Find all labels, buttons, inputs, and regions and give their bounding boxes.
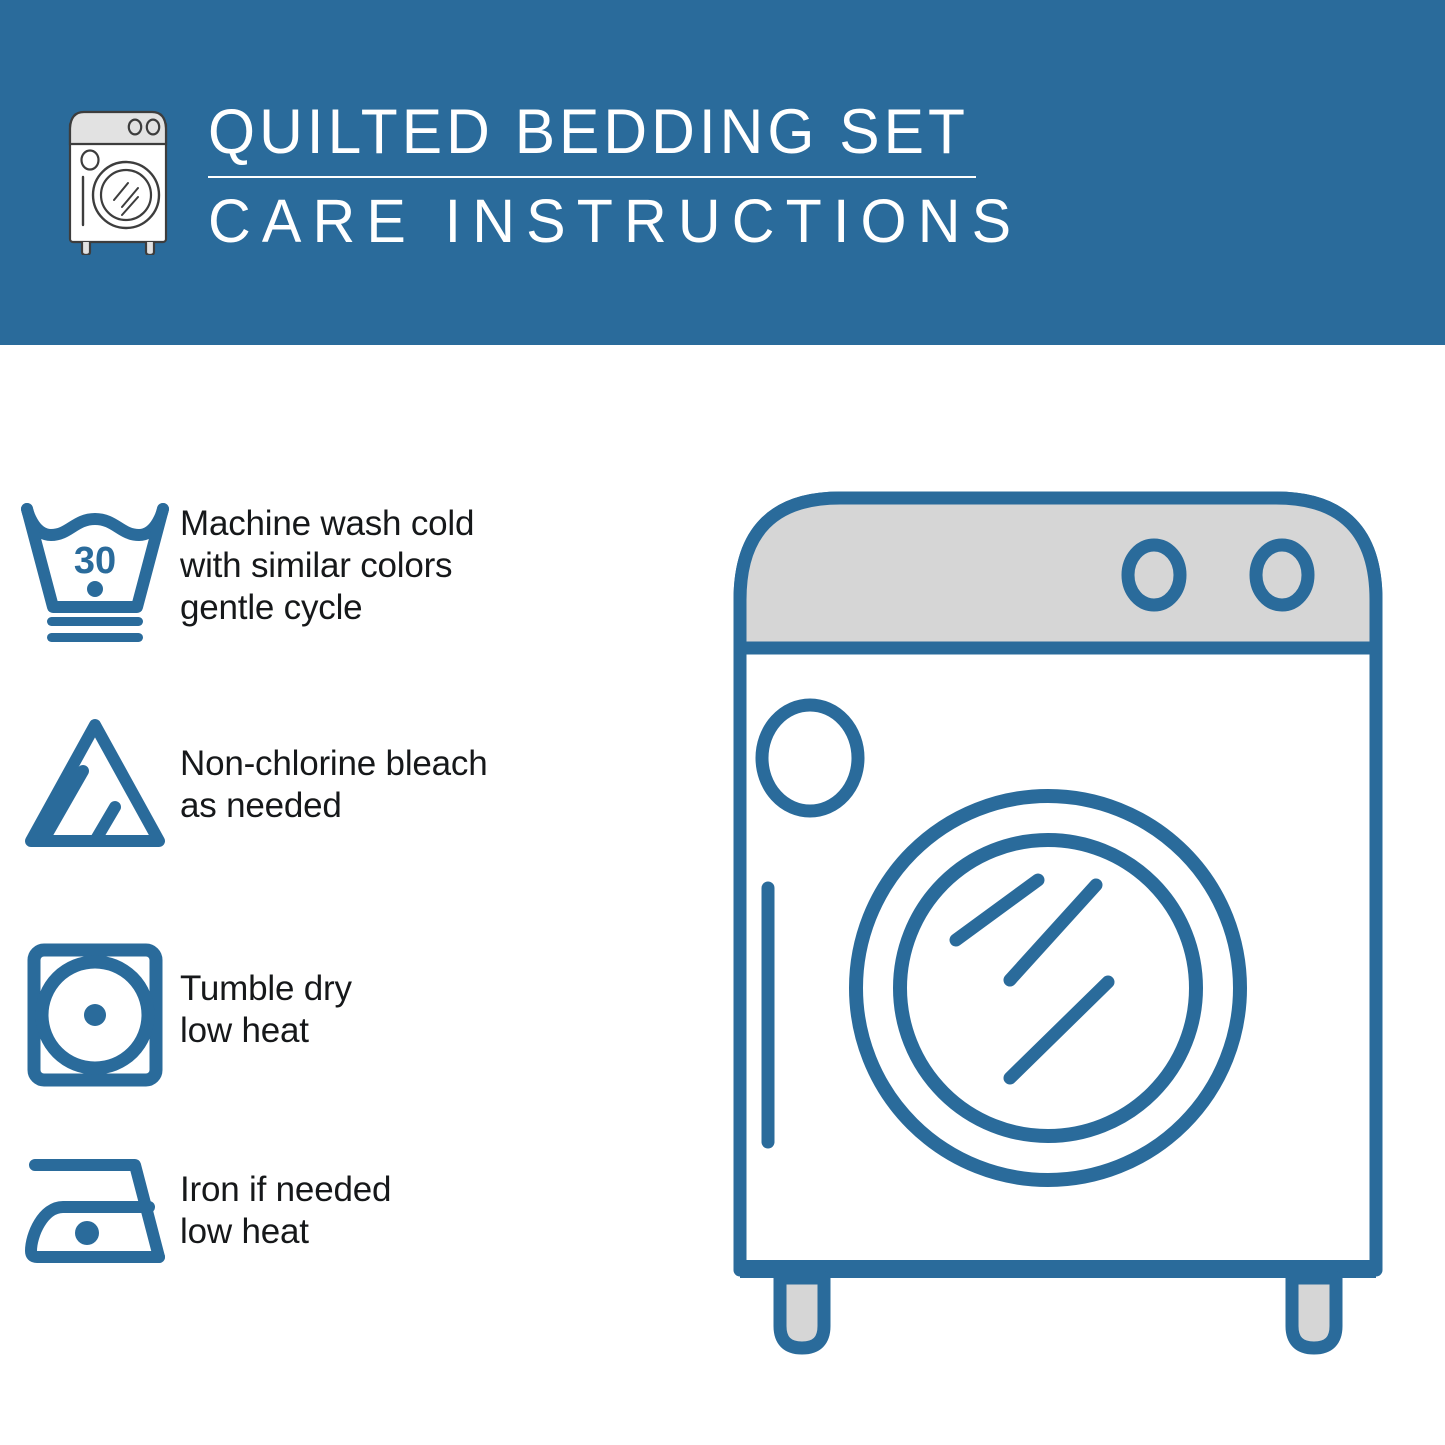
title-divider xyxy=(208,176,976,178)
page-subtitle: CARE INSTRUCTIONS xyxy=(208,187,974,255)
care-text-tumble-dry: Tumble dry low heat xyxy=(180,940,352,1052)
washing-machine-icon xyxy=(62,100,174,255)
care-row-bleach: Non-chlorine bleach as needed xyxy=(0,715,700,855)
care-text-iron: Iron if needed low heat xyxy=(180,1145,391,1253)
iron-low-heat-icon xyxy=(0,1145,180,1275)
header-text-block: QUILTED BEDDING SET CARE INSTRUCTIONS xyxy=(208,96,998,255)
knob-right xyxy=(1256,545,1308,605)
care-instructions-page: QUILTED BEDDING SET CARE INSTRUCTIONS 30 xyxy=(0,0,1445,1445)
tumble-dry-low-icon xyxy=(0,940,180,1090)
washing-machine-illustration xyxy=(718,470,1398,1370)
knob-left xyxy=(1128,545,1180,605)
base-bar xyxy=(740,1260,1376,1278)
leg-left xyxy=(780,1278,824,1348)
door-inner-ring xyxy=(900,840,1196,1136)
header-banner: QUILTED BEDDING SET CARE INSTRUCTIONS xyxy=(0,0,1445,345)
bleach-triangle-icon xyxy=(0,715,180,855)
wash-temperature-label: 30 xyxy=(73,540,115,582)
care-text-machine-wash: Machine wash cold with similar colors ge… xyxy=(180,495,474,629)
care-row-tumble-dry: Tumble dry low heat xyxy=(0,940,700,1090)
care-row-machine-wash: 30 Machine wash cold with similar colors… xyxy=(0,495,700,645)
wash-tub-30-icon: 30 xyxy=(0,495,180,645)
care-text-bleach: Non-chlorine bleach as needed xyxy=(180,715,488,827)
care-instruction-list: 30 Machine wash cold with similar colors… xyxy=(0,345,700,1445)
page-title: QUILTED BEDDING SET xyxy=(208,96,966,168)
indicator-button xyxy=(762,705,858,811)
care-row-iron: Iron if needed low heat xyxy=(0,1145,700,1275)
leg-right xyxy=(1292,1278,1336,1348)
